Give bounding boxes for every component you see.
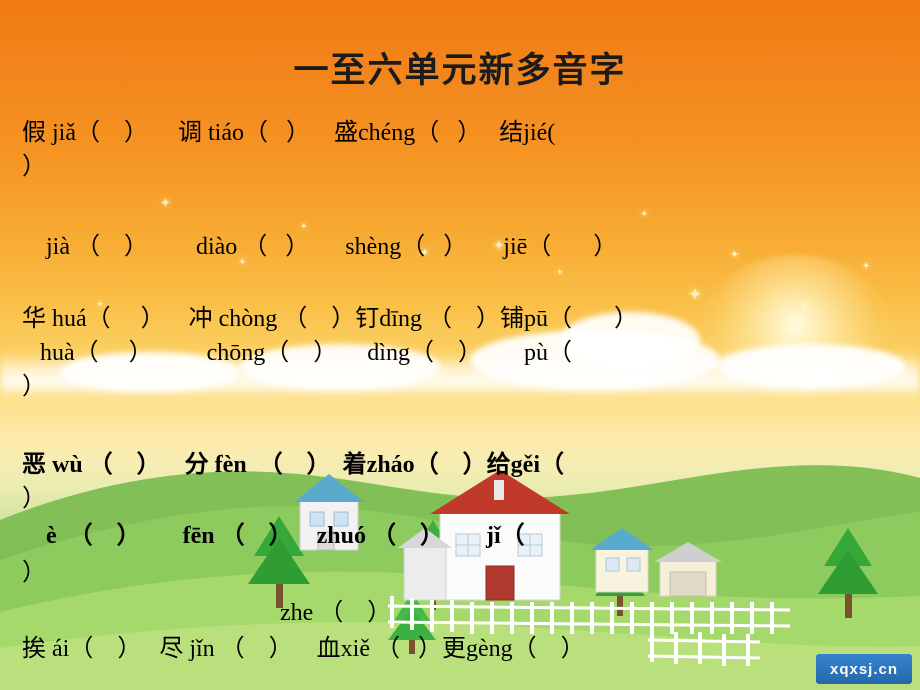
text-line-6: ） xyxy=(22,366,912,401)
text-line-3: jià （ ） diào （ ） shèng（ ） jiē（ ） xyxy=(22,226,912,261)
text-line-1: 假 jiǎ（ ） 调 tiáo（ ） 盛chéng（ ） 结jié( xyxy=(22,112,912,147)
page-title: 一至六单元新多音字 xyxy=(0,42,920,93)
text-line-4: 华 huá（ ） 冲 chòng （ ）钉dīng （ ）铺pū（ ） xyxy=(22,298,912,333)
text-line-7: 恶 wù （ ） 分 fèn （ ） 着zháo（ ）给gěi（ xyxy=(22,444,912,479)
text-line-9: è （ ） fēn （ ） zhuó （ ） jǐ（ xyxy=(22,515,912,550)
text-line-5: huà（ ） chōng（ ） dìng（ ） pù（ xyxy=(22,332,912,367)
slide-content: 一至六单元新多音字 假 jiǎ（ ） 调 tiáo（ ） 盛chéng（ ） 结… xyxy=(0,0,920,690)
text-line-11: zhe （ ） xyxy=(22,592,912,627)
watermark-badge: xqxsj.cn xyxy=(816,654,912,684)
text-line-8: ） xyxy=(22,478,912,513)
text-line-10: ） xyxy=(22,552,912,587)
text-line-2: ） xyxy=(22,146,912,181)
text-line-12: 挨 ái（ ） 尽 jǐn （ ） 血xiě （ ）更gèng（ ） xyxy=(22,628,912,663)
slide-canvas: ✦ ✦ ✦ ✦ ✦ ✦ ✦ ✦ ✦ ✦ ✦ ✦ xyxy=(0,0,920,690)
